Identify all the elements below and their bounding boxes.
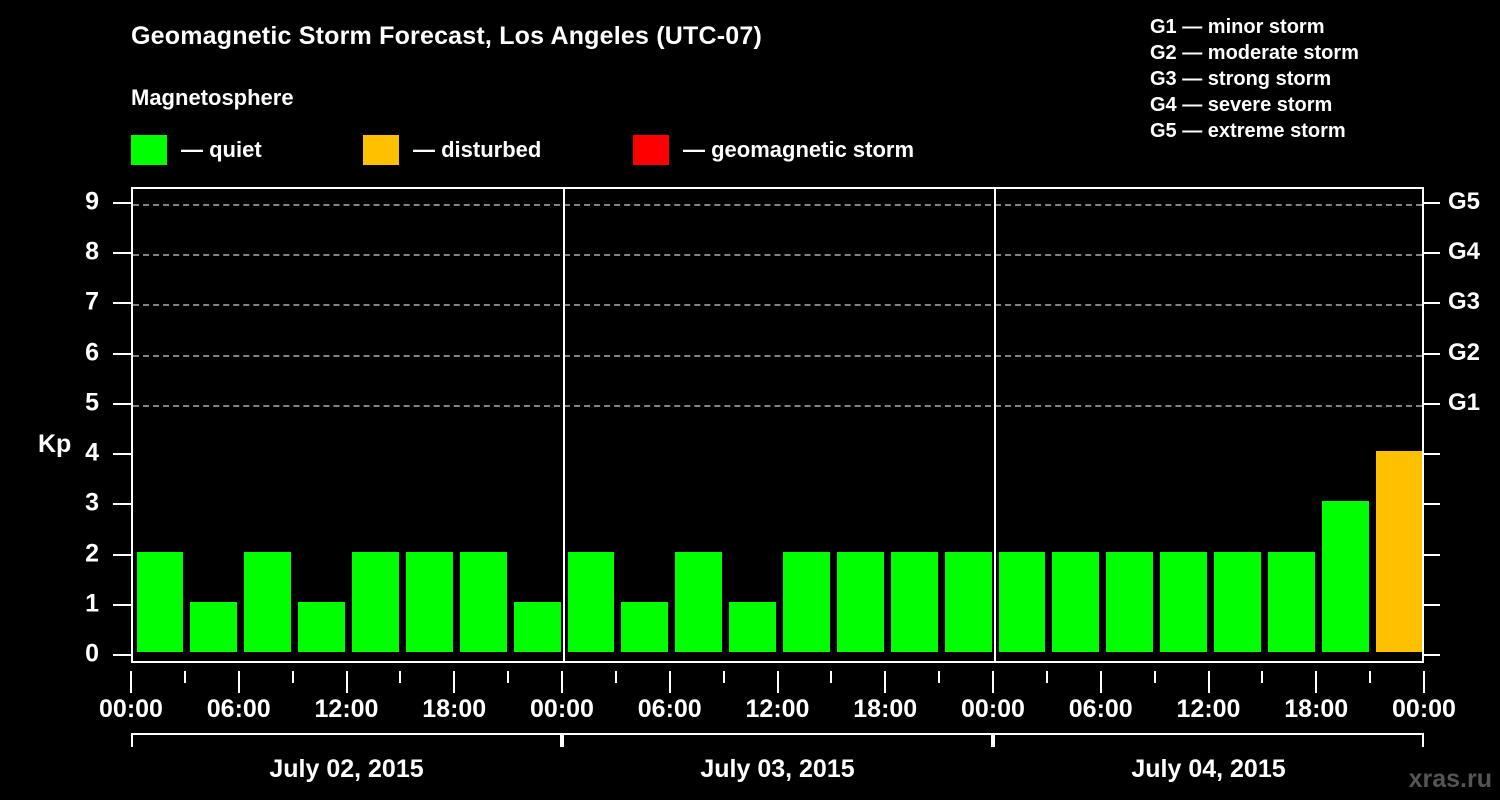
plot-inner	[133, 189, 1422, 661]
y-tick-label-9: 9	[85, 188, 99, 217]
legend-entry-geomagnetic-storm: — geomagnetic storm	[633, 134, 914, 166]
x-tick-label-8: 00:00	[961, 695, 1025, 724]
x-tick-minor-9	[615, 671, 617, 683]
bar-5	[406, 552, 453, 652]
bar-22	[1322, 501, 1369, 652]
bar-17	[1052, 552, 1099, 652]
bar-4	[352, 552, 399, 652]
y-tick-mark-6	[113, 353, 131, 355]
legend-entry-disturbed: — disturbed	[363, 134, 541, 166]
bar-0	[137, 552, 184, 652]
x-tick-minor-1	[184, 671, 186, 683]
y-tick-label-4: 4	[85, 439, 99, 468]
bar-23	[1376, 451, 1422, 652]
legend-swatch-disturbed	[363, 135, 399, 165]
magnetosphere-label: Magnetosphere	[131, 85, 294, 111]
plot-area	[131, 187, 1424, 663]
y-tick-label-5: 5	[85, 388, 99, 417]
y-tick-mark-2	[113, 554, 131, 556]
g-axis-tick-kp-8	[1424, 252, 1440, 254]
day-label-2: July 03, 2015	[700, 755, 854, 784]
bar-7	[514, 602, 561, 652]
x-tick-major-4	[346, 671, 348, 693]
gridline-kp-9	[133, 204, 1422, 206]
g-axis-tick-kp-6	[1424, 353, 1440, 355]
y-tick-mark-8	[113, 252, 131, 254]
bar-9	[621, 602, 668, 652]
bar-11	[729, 602, 776, 652]
g-axis-tick-kp-3	[1424, 503, 1440, 505]
legend-swatch-geomagnetic-storm	[633, 135, 669, 165]
gridline-kp-6	[133, 355, 1422, 357]
g-axis-label-G4: G4	[1448, 238, 1480, 266]
y-tick-mark-0	[113, 654, 131, 656]
gridline-kp-7	[133, 304, 1422, 306]
y-tick-mark-5	[113, 403, 131, 405]
x-tick-minor-19	[1154, 671, 1156, 683]
g-axis-tick-kp-1	[1424, 604, 1440, 606]
x-tick-label-6: 12:00	[746, 695, 810, 724]
y-tick-mark-1	[113, 604, 131, 606]
y-tick-label-1: 1	[85, 589, 99, 618]
x-tick-minor-7	[507, 671, 509, 683]
x-tick-minor-17	[1046, 671, 1048, 683]
bar-20	[1214, 552, 1261, 652]
x-tick-minor-13	[830, 671, 832, 683]
bar-14	[891, 552, 938, 652]
bar-15	[945, 552, 992, 652]
y-tick-label-7: 7	[85, 288, 99, 317]
g-axis-tick-kp-9	[1424, 202, 1440, 204]
g-axis-tick-kp-4	[1424, 453, 1440, 455]
legend-label-quiet: — quiet	[181, 137, 262, 163]
x-tick-major-6	[453, 671, 455, 693]
x-tick-major-24	[1423, 671, 1425, 693]
x-tick-label-11: 18:00	[1284, 695, 1348, 724]
x-tick-minor-15	[938, 671, 940, 683]
day-divider-2	[994, 189, 996, 661]
legend-entry-quiet: — quiet	[131, 134, 262, 166]
x-tick-minor-3	[292, 671, 294, 683]
gridline-kp-5	[133, 405, 1422, 407]
y-tick-mark-9	[113, 202, 131, 204]
x-tick-label-7: 18:00	[853, 695, 917, 724]
y-tick-label-3: 3	[85, 489, 99, 518]
bar-19	[1160, 552, 1207, 652]
day-band-2	[562, 733, 993, 747]
x-tick-major-18	[1100, 671, 1102, 693]
x-tick-major-12	[777, 671, 779, 693]
day-label-3: July 04, 2015	[1131, 755, 1285, 784]
y-tick-label-8: 8	[85, 238, 99, 267]
g-axis-label-G1: G1	[1448, 389, 1480, 417]
g-axis-tick-kp-2	[1424, 554, 1440, 556]
x-tick-major-8	[561, 671, 563, 693]
g-axis-label-G3: G3	[1448, 288, 1480, 316]
x-tick-label-2: 12:00	[315, 695, 379, 724]
bar-12	[783, 552, 830, 652]
g-axis-tick-kp-7	[1424, 302, 1440, 304]
y-tick-mark-4	[113, 453, 131, 455]
bar-10	[675, 552, 722, 652]
y-tick-mark-3	[113, 503, 131, 505]
bar-2	[244, 552, 291, 652]
g-axis-tick-kp-5	[1424, 403, 1440, 405]
x-tick-major-14	[884, 671, 886, 693]
page-title: Geomagnetic Storm Forecast, Los Angeles …	[131, 22, 762, 51]
day-axis: July 02, 2015July 03, 2015July 04, 2015	[0, 733, 1500, 800]
x-tick-major-16	[992, 671, 994, 693]
y-tick-label-2: 2	[85, 539, 99, 568]
bar-18	[1106, 552, 1153, 652]
x-tick-label-3: 18:00	[422, 695, 486, 724]
legend-label-geomagnetic-storm: — geomagnetic storm	[683, 137, 914, 163]
x-tick-minor-5	[399, 671, 401, 683]
gridline-kp-8	[133, 254, 1422, 256]
bar-3	[298, 602, 345, 652]
y-tick-label-6: 6	[85, 338, 99, 367]
x-tick-minor-21	[1261, 671, 1263, 683]
x-tick-major-22	[1315, 671, 1317, 693]
x-tick-minor-11	[723, 671, 725, 683]
x-axis: 00:0006:0012:0018:0000:0006:0012:0018:00…	[0, 663, 1500, 733]
x-tick-label-5: 06:00	[638, 695, 702, 724]
x-tick-major-0	[130, 671, 132, 693]
bar-13	[837, 552, 884, 652]
g-axis-label-G5: G5	[1448, 188, 1480, 216]
day-divider-1	[563, 189, 565, 661]
bar-16	[999, 552, 1046, 652]
x-tick-label-1: 06:00	[207, 695, 271, 724]
x-tick-major-10	[669, 671, 671, 693]
x-tick-label-10: 12:00	[1177, 695, 1241, 724]
g-axis-label-G2: G2	[1448, 339, 1480, 367]
y-tick-mark-7	[113, 302, 131, 304]
day-label-1: July 02, 2015	[269, 755, 423, 784]
bar-6	[460, 552, 507, 652]
bar-8	[568, 552, 615, 652]
legend-swatch-quiet	[131, 135, 167, 165]
x-tick-major-2	[238, 671, 240, 693]
x-tick-major-20	[1208, 671, 1210, 693]
x-tick-label-12: 00:00	[1392, 695, 1456, 724]
x-tick-label-9: 06:00	[1069, 695, 1133, 724]
g-axis-tick-kp-0	[1424, 654, 1440, 656]
x-tick-label-4: 00:00	[530, 695, 594, 724]
x-tick-minor-23	[1369, 671, 1371, 683]
day-band-3	[993, 733, 1424, 747]
x-tick-label-0: 00:00	[99, 695, 163, 724]
day-band-1	[131, 733, 562, 747]
bar-1	[190, 602, 237, 652]
watermark: xras.ru	[1409, 765, 1492, 794]
bar-21	[1268, 552, 1315, 652]
legend-label-disturbed: — disturbed	[413, 137, 541, 163]
